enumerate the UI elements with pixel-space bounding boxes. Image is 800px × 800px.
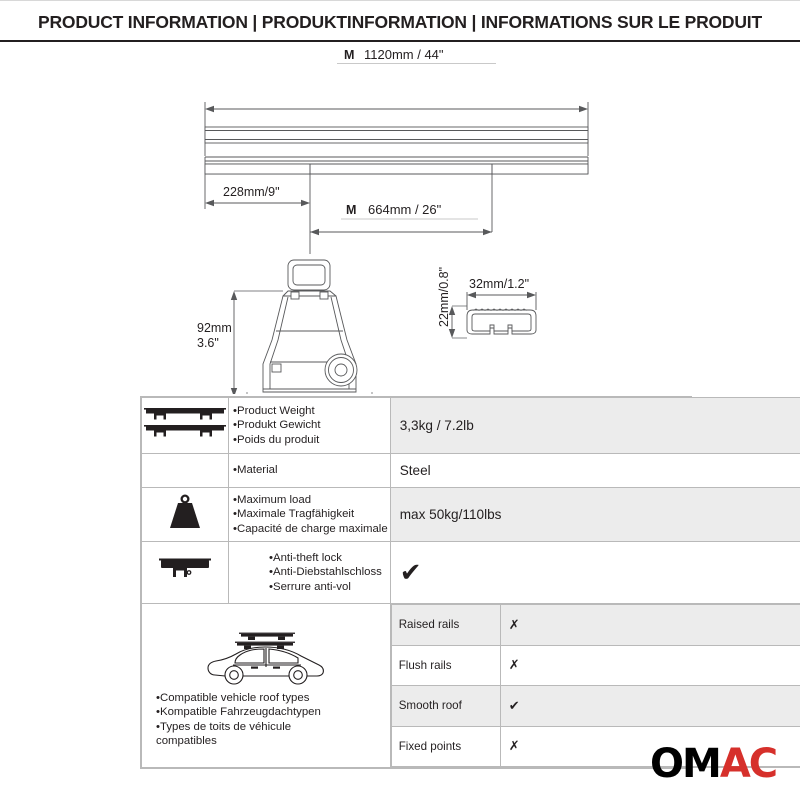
- foot-spacing-value: 664mm / 26": [368, 202, 442, 217]
- bar-profile-section: [466, 309, 536, 334]
- label-anti-theft-lock: •Anti-theft lock •Anti-Diebstahlschloss …: [229, 542, 391, 604]
- label-line-de: •Maximale Tragfähigkeit: [233, 507, 388, 521]
- specification-table: •Product Weight •Produkt Gewicht •Poids …: [140, 396, 692, 769]
- foot-offset-dimension: [205, 200, 310, 206]
- label-line-en: •Anti-theft lock: [269, 551, 388, 565]
- label-line-en: •Maximum load: [233, 493, 388, 507]
- omac-logo: OMAC: [650, 744, 776, 784]
- weight-icon: [142, 488, 229, 542]
- roof-type-mark: ✔: [500, 686, 800, 727]
- roof-type-row-raised-rails: Raised rails ✗: [391, 605, 800, 646]
- roof-type-row-smooth-roof: Smooth roof ✔: [391, 686, 800, 727]
- lock-icon: [142, 542, 229, 604]
- profile-height-dimension: [449, 306, 467, 338]
- roof-type-name: Fixed points: [391, 726, 500, 767]
- roof-type-mark: ✗: [500, 645, 800, 686]
- foot-front-view: [263, 260, 357, 392]
- table-row-maximum-load: •Maximum load •Maximale Tragfähigkeit •C…: [142, 488, 800, 542]
- profile-height-value: 22mm/0.8": [437, 267, 451, 327]
- roof-type-name: Smooth roof: [391, 686, 500, 727]
- roof-types-description: •Compatible vehicle roof types •Kompatib…: [142, 604, 391, 768]
- crossbar-side-view: [205, 157, 588, 174]
- caption-line-fr: •Types de toits de véhicule: [156, 720, 390, 734]
- value-maximum-load: max 50kg/110lbs: [390, 488, 800, 542]
- profile-width-dimension: [467, 292, 536, 310]
- label-line-fr: •Serrure anti-vol: [269, 580, 388, 594]
- caption-line-fr2: compatibles: [156, 734, 390, 748]
- bar-length-prefix: M: [344, 48, 354, 62]
- label-maximum-load: •Maximum load •Maximale Tragfähigkeit •C…: [229, 488, 391, 542]
- logo-text-red: AC: [720, 741, 776, 787]
- label-line-en: •Material: [233, 463, 388, 477]
- crossbar-top-view: [205, 127, 588, 143]
- table-row-product-weight: •Product Weight •Produkt Gewicht •Poids …: [142, 398, 800, 454]
- roof-type-name: Flush rails: [391, 645, 500, 686]
- foot-spacing-dimension: [310, 229, 492, 235]
- material-icon-empty: [142, 454, 229, 488]
- roof-types-caption: •Compatible vehicle roof types •Kompatib…: [142, 689, 390, 748]
- check-icon: ✔: [400, 557, 422, 587]
- foot-spacing-prefix: M: [346, 203, 356, 217]
- top-divider: [0, 0, 800, 1]
- roof-type-row-flush-rails: Flush rails ✗: [391, 645, 800, 686]
- value-material: Steel: [390, 454, 800, 488]
- foot-height-line2: 3.6": [197, 336, 219, 350]
- roof-type-mark: ✗: [500, 605, 800, 646]
- label-line-de: •Anti-Diebstahlschloss: [269, 565, 388, 579]
- value-product-weight: 3,3kg / 7.2lb: [390, 398, 800, 454]
- label-line-fr: •Capacité de charge maximale: [233, 522, 388, 536]
- label-product-weight: •Product Weight •Produkt Gewicht •Poids …: [229, 398, 391, 454]
- label-line-de: •Produkt Gewicht: [233, 418, 388, 432]
- table-row-material: •Material Steel: [142, 454, 800, 488]
- table-row-anti-theft-lock: •Anti-theft lock •Anti-Diebstahlschloss …: [142, 542, 800, 604]
- value-anti-theft-lock: ✔: [390, 542, 800, 604]
- bar-length-value: 1120mm / 44": [364, 47, 444, 62]
- foot-height-line1: 92mm: [197, 321, 232, 335]
- crossbars-icon: [142, 398, 229, 454]
- technical-drawing: M 1120mm / 44" 228mm/9" M 664mm / 26" 92…: [0, 44, 800, 394]
- caption-line-de: •Kompatible Fahrzeugdachtypen: [156, 705, 390, 719]
- profile-width-value: 32mm/1.2": [469, 277, 529, 291]
- logo-text-black: OM: [650, 741, 720, 787]
- label-material: •Material: [229, 454, 391, 488]
- title-divider: [0, 40, 800, 42]
- label-line-en: •Product Weight: [233, 404, 388, 418]
- roof-type-name: Raised rails: [391, 605, 500, 646]
- foot-offset-value: 228mm/9": [223, 185, 280, 199]
- label-line-fr: •Poids du produit: [233, 433, 388, 447]
- page-title: PRODUCT INFORMATION | PRODUKTINFORMATION…: [0, 12, 800, 33]
- caption-line-en: •Compatible vehicle roof types: [156, 691, 390, 705]
